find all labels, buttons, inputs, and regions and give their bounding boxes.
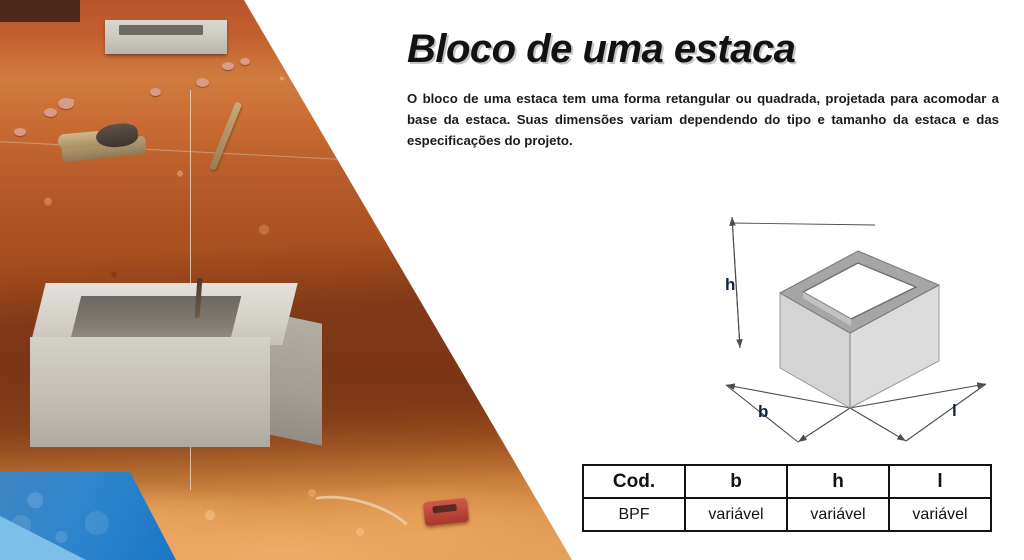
stone [14, 128, 26, 136]
stone [58, 98, 74, 109]
table-cell-h: variável [787, 498, 889, 531]
stone [44, 108, 57, 117]
stone [222, 62, 234, 70]
table-row: BPF variável variável variável [583, 498, 991, 531]
stone [196, 78, 209, 87]
red-tool [423, 498, 469, 526]
concrete-block-front-face [30, 337, 270, 447]
table-cell-cod: BPF [583, 498, 685, 531]
distant-footing-cavity [119, 25, 203, 35]
stone [240, 58, 250, 65]
page-title: Bloco de uma estaca [407, 27, 795, 72]
dimension-label-b: b [758, 402, 768, 421]
body-paragraph: O bloco de uma estaca tem uma forma reta… [407, 88, 999, 151]
spec-table: Cod. b h l BPF variável variável variáve… [582, 464, 992, 532]
slide-root: Bloco de uma estaca O bloco de uma estac… [0, 0, 1024, 560]
table-cell-l: variável [889, 498, 991, 531]
table-header-cell: b [685, 465, 787, 498]
dimension-label-l: l [952, 401, 957, 420]
photo-dark-corner [0, 0, 80, 22]
table-header-cell: l [889, 465, 991, 498]
stone [150, 88, 161, 96]
table-header-row: Cod. b h l [583, 465, 991, 498]
dimension-label-h: h [725, 275, 735, 294]
block-3d-diagram: h b l [690, 195, 1010, 460]
concrete-block-cavity [71, 296, 241, 338]
distant-footing [105, 20, 227, 54]
red-tool-slot [432, 504, 457, 513]
table-header-cell: Cod. [583, 465, 685, 498]
table-cell-b: variável [685, 498, 787, 531]
table-header-cell: h [787, 465, 889, 498]
